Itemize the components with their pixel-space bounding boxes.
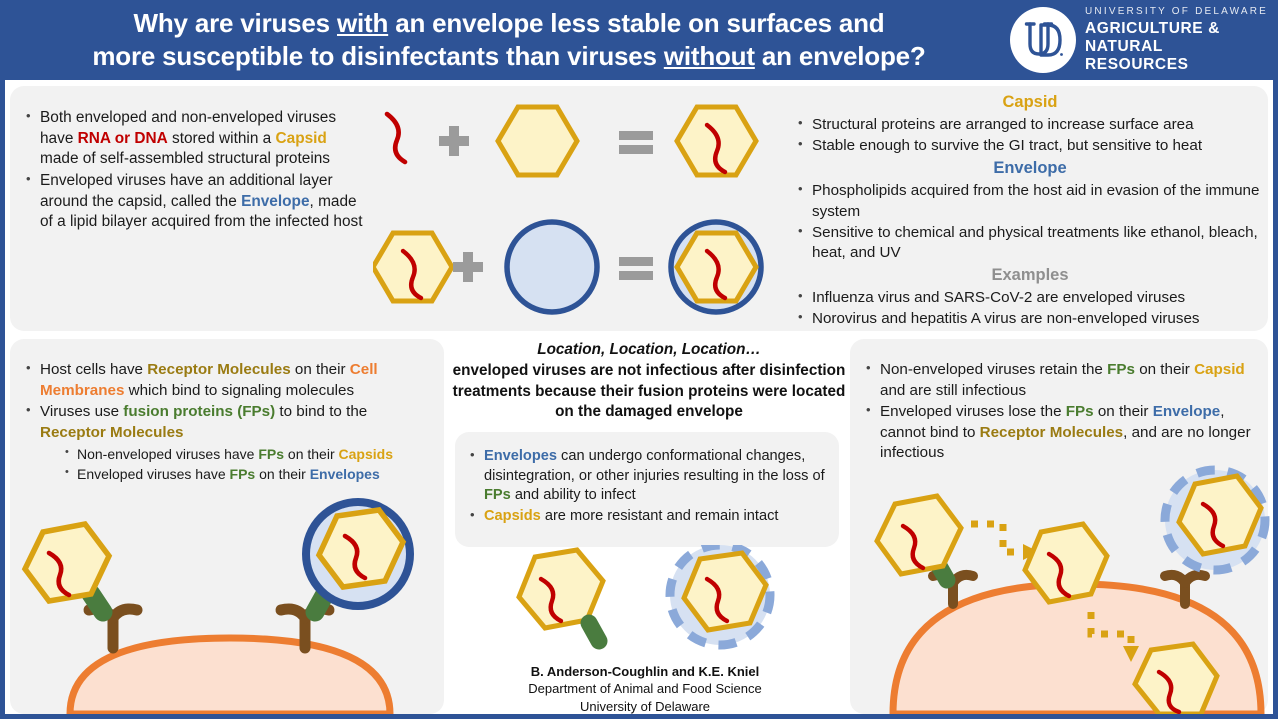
overview-right-text: CapsidStructural proteins are arranged t… xyxy=(795,90,1265,331)
text-run-plain: Viruses use xyxy=(40,403,123,420)
binding-sub-bullet: Non-enveloped viruses have FPs on their … xyxy=(60,445,435,464)
text-run-fp: FPs xyxy=(1107,361,1135,378)
overview-left-bullet: Both enveloped and non-enveloped viruses… xyxy=(23,108,368,170)
text-run-plain: Non-enveloped viruses retain the xyxy=(880,361,1107,378)
non-enveloped-virus-icon-br xyxy=(877,496,961,574)
overview-left-text: Both enveloped and non-enveloped viruses… xyxy=(23,108,368,234)
middle-card-bullet: Envelopes can undergo conformational cha… xyxy=(467,447,837,506)
text-run-plain: on their xyxy=(1135,361,1194,378)
footer-attribution: B. Anderson-Coughlin and K.E. Kniel Depa… xyxy=(445,663,845,715)
empty-capsid-icon xyxy=(498,107,577,175)
genome-strand-icon xyxy=(387,114,405,162)
text-run-plain: on their xyxy=(284,446,338,462)
footer-institution: University of Delaware xyxy=(445,698,845,715)
infectivity-diagram xyxy=(855,462,1278,714)
title-line-1-underlined: with xyxy=(337,8,388,38)
envelope-icon xyxy=(507,222,597,312)
text-run-capsid: Capsids xyxy=(339,446,393,462)
overview-right-bullet: Phospholipids acquired from the host aid… xyxy=(795,181,1265,221)
text-run-rna: RNA or DNA xyxy=(78,130,168,147)
overview-right-bullet: Structural proteins are arranged to incr… xyxy=(795,115,1265,135)
text-run-envelope: Envelopes xyxy=(484,448,557,464)
ud-college-line-1: AGRICULTURE & xyxy=(1085,20,1270,38)
infectivity-bullet: Non-enveloped viruses retain the FPs on … xyxy=(863,360,1263,401)
text-run-plain: on their xyxy=(255,466,309,482)
text-run-fp: FPs xyxy=(258,446,284,462)
equals-sign-row1 xyxy=(619,131,653,154)
text-run-plain: Host cells have xyxy=(40,361,147,378)
virus-entering-cell-icon xyxy=(1025,524,1107,602)
title-line-2: more susceptible to disinfectants than v… xyxy=(12,40,1006,73)
ud-monogram-icon xyxy=(1010,7,1076,73)
overview-right-bullet: Sensitive to chemical and physical treat… xyxy=(795,223,1265,263)
binding-bullets: Host cells have Receptor Molecules on th… xyxy=(23,360,435,484)
text-run-recep: Receptor Molecules xyxy=(980,424,1123,441)
poster-header: Why are viruses with an envelope less st… xyxy=(0,0,1278,80)
infectivity-bullet: Enveloped viruses lose the FPs on their … xyxy=(863,402,1263,464)
title-line-1-part-b: an envelope less stable on surfaces and xyxy=(388,8,884,38)
middle-card-bullets: Envelopes can undergo conformational cha… xyxy=(467,447,837,527)
text-run-capsid: Capsids xyxy=(484,508,541,524)
overview-right-bullet: Norovirus and hepatitis A virus are non-… xyxy=(795,309,1265,329)
section-heading-capsid: Capsid xyxy=(795,92,1265,114)
fusion-protein-left-icon xyxy=(91,594,103,612)
poster-root: Why are viruses with an envelope less st… xyxy=(0,0,1278,719)
text-run-plain: Non-enveloped viruses have xyxy=(77,446,258,462)
ud-college-line-2: NATURAL RESOURCES xyxy=(1085,38,1270,75)
binding-text: Host cells have Receptor Molecules on th… xyxy=(23,360,435,485)
text-run-fp: FPs xyxy=(1066,403,1094,420)
section-heading-examples: Examples xyxy=(795,265,1265,287)
text-run-envelope: Envelope xyxy=(241,193,309,210)
text-run-fp: fusion proteins (FPs) xyxy=(123,403,275,420)
middle-card-text: Envelopes can undergo conformational cha… xyxy=(467,447,837,528)
text-run-plain: which bind to signaling molecules xyxy=(124,382,354,399)
overview-left-bullet: Enveloped viruses have an additional lay… xyxy=(23,171,368,233)
text-run-envelope: Envelopes xyxy=(310,466,380,482)
overview-left-bullets: Both enveloped and non-enveloped viruses… xyxy=(23,108,368,233)
text-run-plain: Enveloped viruses have xyxy=(77,466,230,482)
title-line-2-part-b: an envelope? xyxy=(755,41,926,71)
equals-sign-row2 xyxy=(619,257,653,280)
section-bullets-examples: Influenza virus and SARS-CoV-2 are envel… xyxy=(795,288,1265,329)
infectivity-bullets: Non-enveloped viruses retain the FPs on … xyxy=(863,360,1263,464)
binding-diagram xyxy=(15,498,445,714)
text-run-plain: and ability to infect xyxy=(511,487,636,503)
section-bullets-capsid: Structural proteins are arranged to incr… xyxy=(795,115,1265,156)
title-line-2-part-a: more susceptible to disinfectants than v… xyxy=(92,41,663,71)
middle-headline-body: enveloped viruses are not infectious aft… xyxy=(449,361,849,423)
footer-department: Department of Animal and Food Science xyxy=(445,680,845,697)
plus-sign-row2 xyxy=(453,252,483,282)
text-run-plain: to bind to the xyxy=(275,403,367,420)
text-run-plain: and are still infectious xyxy=(880,382,1026,399)
ud-logo-text: UNIVERSITY OF DELAWARE AGRICULTURE & NAT… xyxy=(1085,6,1270,75)
text-run-capsid: Capsid xyxy=(1194,361,1245,378)
title-line-1-part-a: Why are viruses xyxy=(134,8,337,38)
disinfection-diagram xyxy=(505,545,805,665)
text-run-envelope: Envelope xyxy=(1153,403,1221,420)
overview-right-bullet: Stable enough to survive the GI tract, b… xyxy=(795,136,1265,156)
text-run-plain: stored within a xyxy=(168,130,276,147)
ud-university-line: UNIVERSITY OF DELAWARE xyxy=(1085,6,1270,17)
text-run-recep: Receptor Molecules xyxy=(40,424,183,441)
text-run-plain: are more resistant and remain intact xyxy=(541,508,779,524)
binding-sub-bullets: Non-enveloped viruses have FPs on their … xyxy=(60,445,435,484)
middle-headline: Location, Location, Location… enveloped … xyxy=(449,340,849,423)
text-run-fp: FPs xyxy=(230,466,256,482)
section-bullets-envelope: Phospholipids acquired from the host aid… xyxy=(795,181,1265,263)
title-line-2-underlined: without xyxy=(664,41,755,71)
text-run-plain: made of self-assembled structural protei… xyxy=(40,150,330,167)
text-run-plain: on their xyxy=(1094,403,1153,420)
overview-right-bullet: Influenza virus and SARS-CoV-2 are envel… xyxy=(795,288,1265,308)
middle-card-bullet: Capsids are more resistant and remain in… xyxy=(467,507,837,527)
footer-authors: B. Anderson-Coughlin and K.E. Kniel xyxy=(445,663,845,680)
binding-sub-bullet: Enveloped viruses have FPs on their Enve… xyxy=(60,465,435,484)
infectivity-text: Non-enveloped viruses retain the FPs on … xyxy=(863,360,1263,465)
text-run-fp: FPs xyxy=(484,487,511,503)
middle-headline-italic: Location, Location, Location… xyxy=(449,340,849,361)
virus-assembly-diagram xyxy=(373,100,779,315)
binding-bullet: Host cells have Receptor Molecules on th… xyxy=(23,360,435,401)
fusion-protein-intact-icon xyxy=(589,623,599,641)
text-run-recep: Receptor Molecules xyxy=(147,361,290,378)
text-run-plain: on their xyxy=(291,361,350,378)
binding-bullet: Viruses use fusion proteins (FPs) to bin… xyxy=(23,402,435,484)
entry-arrow-icon xyxy=(971,524,1023,552)
section-heading-envelope: Envelope xyxy=(795,158,1265,180)
text-run-capsid: Capsid xyxy=(276,130,327,147)
title-line-1: Why are viruses with an envelope less st… xyxy=(12,7,1006,40)
page-title: Why are viruses with an envelope less st… xyxy=(0,7,1010,74)
text-run-plain: Enveloped viruses lose the xyxy=(880,403,1066,420)
plus-sign-row1 xyxy=(439,126,469,156)
ud-logo: UNIVERSITY OF DELAWARE AGRICULTURE & NAT… xyxy=(1010,0,1278,80)
